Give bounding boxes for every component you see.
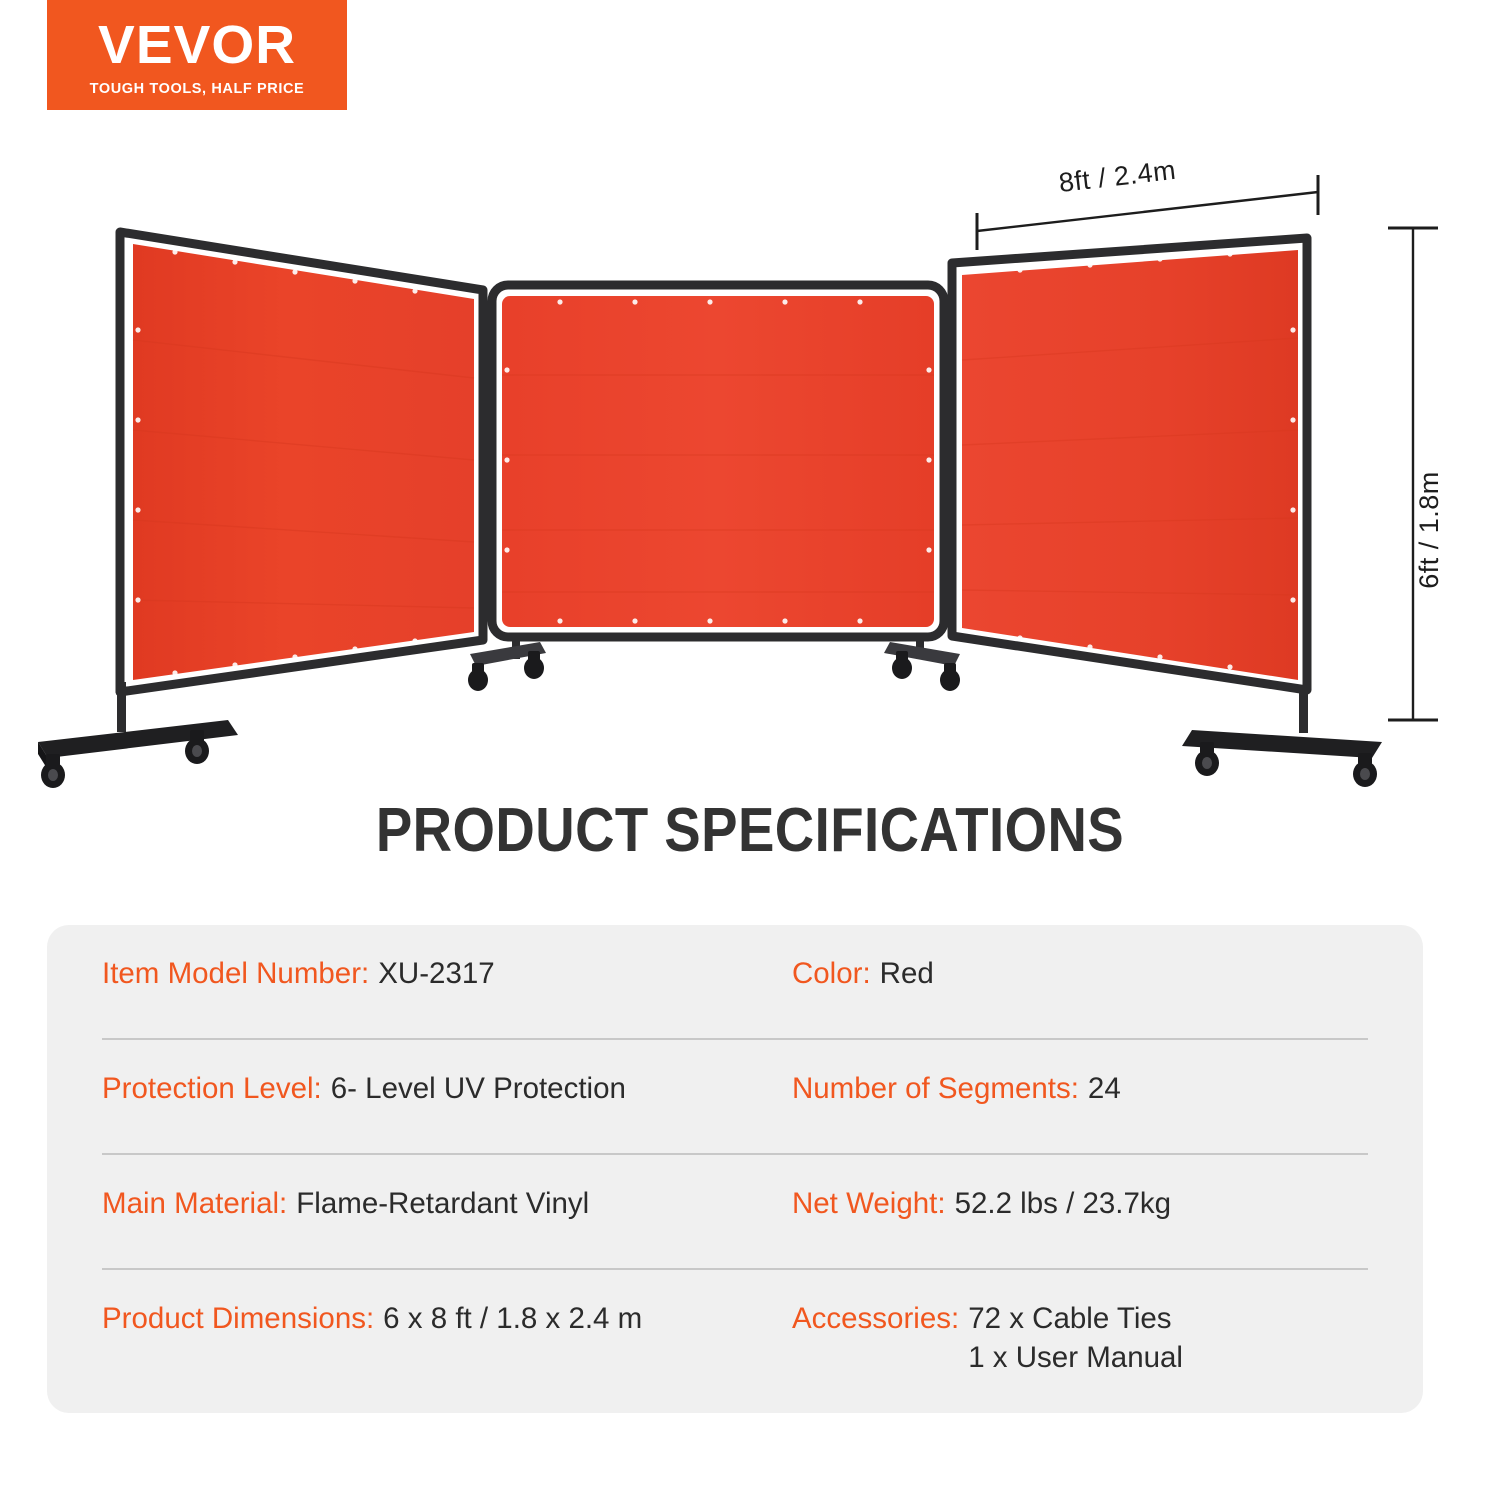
spec-number-of-segments: Number of Segments: 24 (792, 1040, 1368, 1109)
spec-value: 6 x 8 ft / 1.8 x 2.4 m (383, 1300, 642, 1339)
panel-left (38, 232, 483, 788)
spec-label: Product Dimensions: (102, 1300, 374, 1339)
spec-value: 24 (1088, 1070, 1121, 1109)
spec-value: Red (880, 955, 934, 994)
panel-right (952, 238, 1382, 787)
specifications-table: Item Model Number: XU-2317 Color: Red Pr… (47, 925, 1423, 1413)
spec-value: Flame-Retardant Vinyl (296, 1185, 589, 1224)
spec-net-weight: Net Weight: 52.2 lbs / 23.7kg (792, 1155, 1368, 1224)
table-row: Protection Level: 6- Level UV Protection… (102, 1040, 1368, 1155)
brand-tagline: TOUGH TOOLS, HALF PRICE (90, 81, 305, 97)
spec-label: Main Material: (102, 1185, 287, 1224)
page-title: PRODUCT SPECIFICATIONS (90, 795, 1410, 866)
table-row: Main Material: Flame-Retardant Vinyl Net… (102, 1155, 1368, 1270)
spec-value: 6- Level UV Protection (331, 1070, 626, 1109)
table-row: Product Dimensions: 6 x 8 ft / 1.8 x 2.4… (102, 1270, 1368, 1385)
spec-label: Net Weight: (792, 1185, 946, 1224)
spec-label: Item Model Number: (102, 955, 369, 994)
spec-value-line-1: 72 x Cable Ties (968, 1300, 1183, 1339)
spec-protection-level: Protection Level: 6- Level UV Protection (102, 1040, 792, 1109)
spec-color: Color: Red (792, 925, 1368, 994)
dimension-width: 8ft / 2.4m (977, 155, 1318, 250)
spec-main-material: Main Material: Flame-Retardant Vinyl (102, 1155, 792, 1224)
spec-value-line-2: 1 x User Manual (968, 1339, 1183, 1378)
spec-label: Accessories: (792, 1300, 959, 1339)
spec-value: 52.2 lbs / 23.7kg (955, 1185, 1171, 1224)
spec-value: XU-2317 (378, 955, 494, 994)
panel-center (468, 285, 960, 691)
dimension-width-label: 8ft / 2.4m (1057, 155, 1177, 198)
product-illustration: 8ft / 2.4m 6ft / 1.8m (0, 130, 1500, 790)
spec-label: Color: (792, 955, 871, 994)
spec-label: Number of Segments: (792, 1070, 1079, 1109)
spec-value-multiline: 72 x Cable Ties 1 x User Manual (968, 1300, 1183, 1378)
brand-wordmark: VEVOR (98, 18, 296, 72)
spec-product-dimensions: Product Dimensions: 6 x 8 ft / 1.8 x 2.4… (102, 1270, 792, 1339)
spec-label: Protection Level: (102, 1070, 322, 1109)
spec-accessories: Accessories: 72 x Cable Ties 1 x User Ma… (792, 1270, 1368, 1378)
dimension-height-label: 6ft / 1.8m (1414, 471, 1444, 589)
dimension-height: 6ft / 1.8m (1388, 228, 1444, 720)
table-row: Item Model Number: XU-2317 Color: Red (102, 925, 1368, 1040)
spec-item-model-number: Item Model Number: XU-2317 (102, 925, 792, 994)
vevor-logo: VEVOR TOUGH TOOLS, HALF PRICE (47, 0, 347, 110)
